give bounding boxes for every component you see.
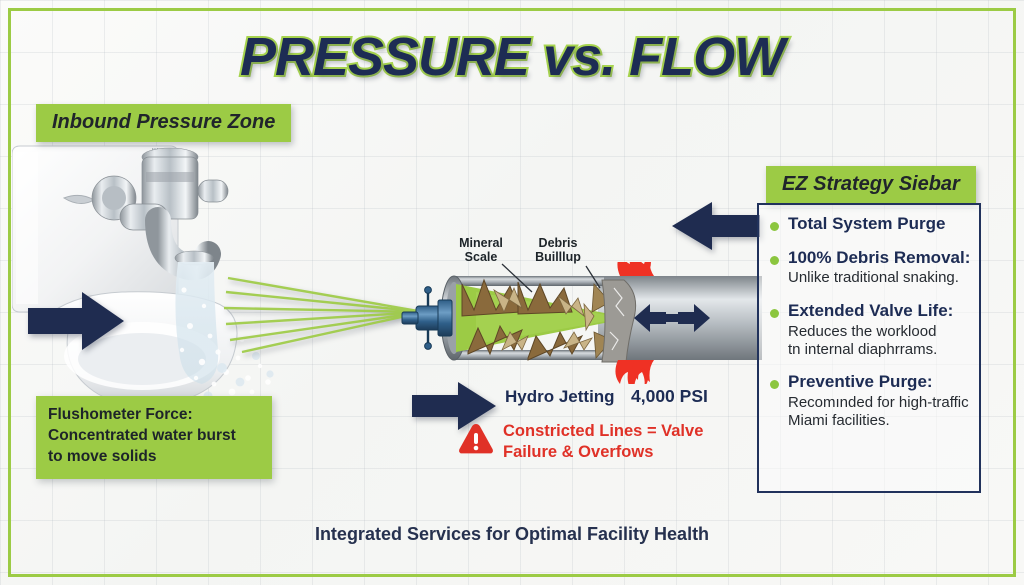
psi-value-label: 4,000 PSI (631, 386, 708, 407)
bullet-dot-icon (770, 256, 779, 265)
arrow-left-icon (668, 200, 762, 252)
warning-triangle-icon (458, 422, 494, 456)
callout-line-1: Concentrated water burst (48, 427, 236, 444)
list-item-heading: Extended Valve Life: (788, 301, 1002, 322)
list-item-sub: Reduces the worklood tn internal diaphrr… (788, 323, 1002, 360)
list-item-sub: Unlike traditional snaking. (788, 269, 1002, 287)
callout-line-2: to move solids (48, 448, 157, 465)
list-item-heading: Total System Purge (788, 214, 1002, 235)
warning-text: Constricted Lines = Valve Failure & Over… (503, 421, 738, 462)
hydro-jetting-label: Hydro Jetting (505, 387, 615, 407)
debris-buildup-label: Debris Builllup (525, 236, 591, 265)
mineral-scale-label: Mineral Scale (449, 236, 513, 265)
list-item-sub: Recomınded for high-traffic Miami facili… (788, 394, 1002, 431)
bullet-dot-icon (770, 309, 779, 318)
list-item-heading: Preventive Purge: (788, 372, 1002, 393)
bullet-dot-icon (770, 222, 779, 231)
bullet-dot-icon (770, 380, 779, 389)
flushometer-force-callout: Flushometer Force: Concentrated water bu… (36, 396, 272, 479)
infographic-canvas: PRESSURE vs. FLOW (0, 0, 1024, 585)
arrow-right-icon (26, 290, 126, 352)
footer-tagline: Integrated Services for Optimal Facility… (0, 524, 1024, 545)
sidebar-list: Total System Purge 100% Debris Removal: … (770, 214, 1002, 443)
list-item: Extended Valve Life: Reduces the workloo… (770, 301, 1002, 359)
page-title: PRESSURE vs. FLOW (0, 26, 1024, 88)
inbound-pressure-zone-label: Inbound Pressure Zone (36, 104, 291, 142)
warning-line-2: Failure & Overfows (503, 443, 653, 461)
list-item-heading: 100% Debris Removal: (788, 248, 1002, 269)
list-item: Preventive Purge: Recomınded for high-tr… (770, 372, 1002, 430)
sidebar-heading: EZ Strategy Siebar (766, 166, 976, 204)
callout-heading: Flushometer Force: (48, 406, 193, 423)
list-item: 100% Debris Removal: Unlike traditional … (770, 248, 1002, 288)
warning-line-1: Constricted Lines = Valve (503, 422, 703, 440)
list-item: Total System Purge (770, 214, 1002, 235)
